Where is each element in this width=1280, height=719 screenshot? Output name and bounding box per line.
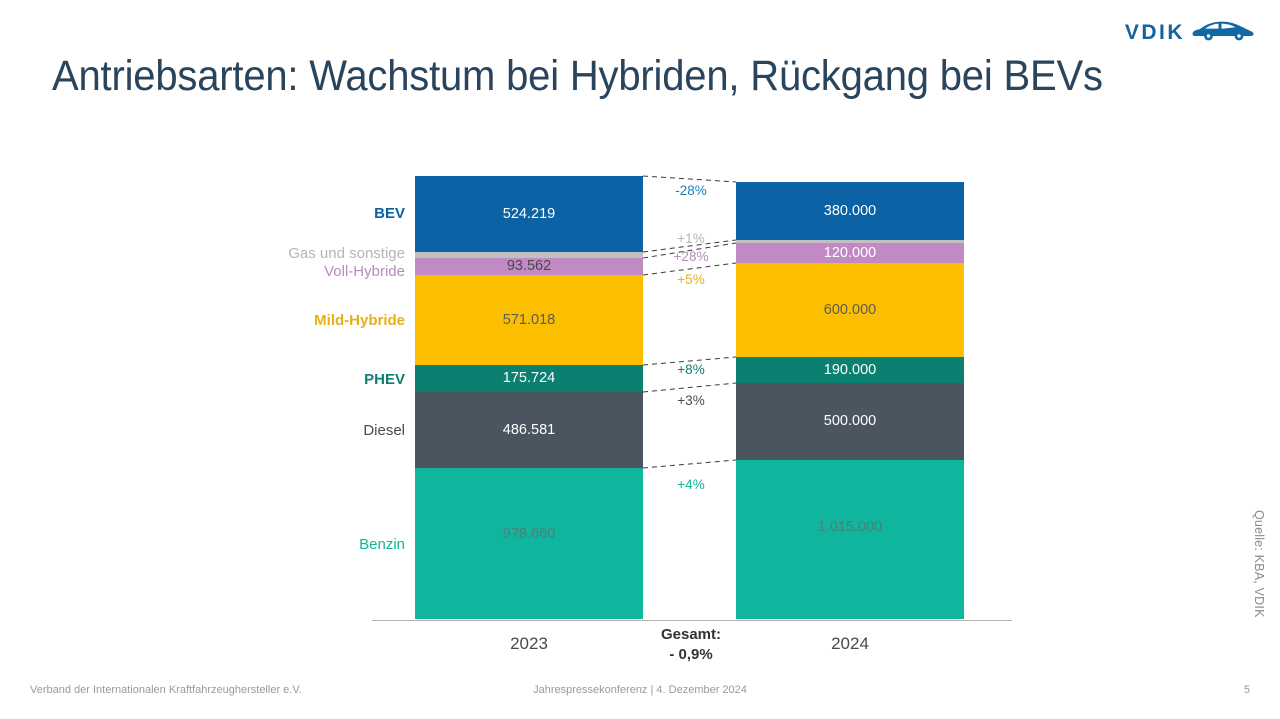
stacked-bar-chart: BEV Gas und sonstige Voll-Hybride Mild-H…: [0, 0, 1280, 719]
footer: Verband der Internationalen Kraftfahrzeu…: [0, 684, 1280, 706]
change-label-bev: -28%: [643, 183, 739, 198]
category-label-diesel: Diesel: [363, 422, 405, 439]
segment-2024-phev: 190.000: [736, 357, 964, 383]
category-label-bev: BEV: [374, 205, 405, 222]
segment-2024-voll-hybride: 120.000: [736, 243, 964, 263]
change-label-voll-hybride: +28%: [643, 249, 739, 264]
x-axis-line: [372, 620, 1012, 621]
category-label-voll-hybride: Voll-Hybride: [324, 263, 405, 280]
segment-2023-bev: 524.219: [415, 176, 643, 252]
x-axis-label-2024: 2024: [736, 634, 964, 654]
change-label-gas-und-sonstige: +1%: [643, 231, 739, 246]
segment-2023-voll-hybride: 93.562: [415, 258, 643, 275]
segment-2023-mild-hybride: 571.018: [415, 275, 643, 365]
total-change-label: Gesamt: - 0,9%: [643, 625, 739, 666]
category-label-benzin: Benzin: [359, 536, 405, 553]
segment-2023-diesel: 486.581: [415, 392, 643, 468]
segment-2024-bev: 380.000: [736, 182, 964, 240]
category-label-gas-und-sonstige: Gas und sonstige: [288, 245, 405, 262]
segment-2024-mild-hybride: 600.000: [736, 263, 964, 357]
footer-event: Jahrespressekonferenz | 4. Dezember 2024: [0, 684, 1280, 696]
source-note: Quelle: KBA, VDIK: [1252, 510, 1266, 618]
x-axis-label-2023: 2023: [415, 634, 643, 654]
change-label-diesel: +3%: [643, 393, 739, 408]
category-label-column: BEV Gas und sonstige Voll-Hybride Mild-H…: [120, 0, 405, 719]
change-label-benzin: +4%: [643, 477, 739, 492]
segment-2023-benzin: 978.660: [415, 468, 643, 619]
footer-page-number: 5: [1244, 684, 1250, 696]
category-label-phev: PHEV: [364, 371, 405, 388]
total-change-title: Gesamt:: [643, 625, 739, 645]
segment-2024-diesel: 500.000: [736, 383, 964, 460]
change-label-phev: +8%: [643, 362, 739, 377]
segment-2024-benzin: 1.015.000: [736, 460, 964, 619]
change-label-mild-hybride: +5%: [643, 272, 739, 287]
segment-2023-phev: 175.724: [415, 365, 643, 392]
category-label-mild-hybride: Mild-Hybride: [314, 312, 405, 329]
total-change-value: - 0,9%: [643, 645, 739, 665]
